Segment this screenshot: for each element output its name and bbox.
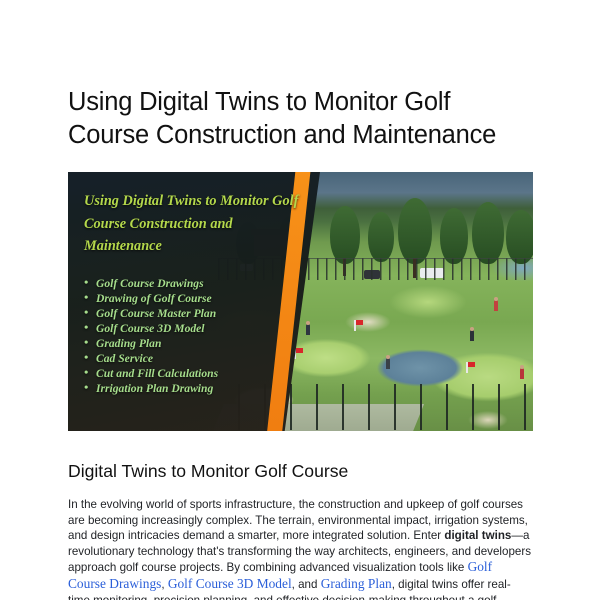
golfer-figure [520, 368, 524, 379]
body-paragraph: In the evolving world of sports infrastr… [68, 497, 532, 600]
golfer-figure [470, 330, 474, 341]
tree-icon [440, 208, 468, 264]
banner-services-list: Golf Course Drawings Drawing of Golf Cou… [84, 276, 304, 397]
separator: , and [292, 578, 321, 591]
tree-icon [506, 210, 533, 264]
tree-icon [368, 212, 394, 262]
tree-icon [472, 202, 504, 264]
list-item: Irrigation Plan Drawing [96, 381, 304, 396]
section-heading: Digital Twins to Monitor Golf Course [68, 459, 532, 483]
list-item: Golf Course Drawings [96, 276, 304, 291]
list-item: Drawing of Golf Course [96, 291, 304, 306]
link-grading-plan[interactable]: Grading Plan [321, 576, 392, 591]
list-item: Cad Service [96, 351, 304, 366]
golfer-figure [386, 358, 390, 369]
banner-title: Using Digital Twins to Monitor Golf Cour… [84, 190, 302, 258]
golfer-figure [494, 300, 498, 311]
article-hero-banner: Using Digital Twins to Monitor Golf Cour… [68, 172, 533, 431]
tree-icon [330, 206, 360, 264]
link-golf-course-3d-model[interactable]: Golf Course 3D Model [168, 576, 292, 591]
bold-term: digital twins [444, 529, 511, 542]
flag-icon [466, 362, 468, 373]
list-item: Golf Course 3D Model [96, 321, 304, 336]
flag-icon [354, 320, 356, 331]
tree-icon [398, 198, 432, 264]
article-page: Using Digital Twins to Monitor Golf Cour… [0, 0, 600, 600]
list-item: Cut and Fill Calculations [96, 366, 304, 381]
page-title: Using Digital Twins to Monitor Golf Cour… [68, 0, 498, 152]
banner-content: Using Digital Twins to Monitor Golf Cour… [68, 172, 320, 431]
list-item: Golf Course Master Plan [96, 306, 304, 321]
list-item: Grading Plan [96, 336, 304, 351]
